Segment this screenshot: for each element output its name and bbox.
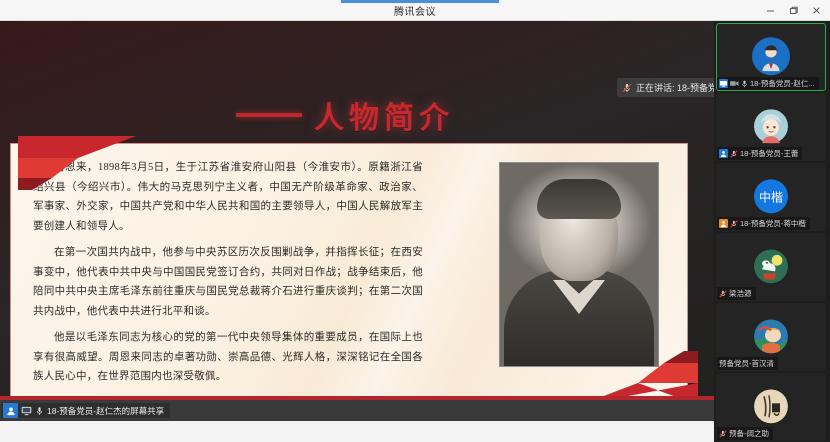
mic-icon xyxy=(35,406,44,416)
avatar: 中楷 xyxy=(754,179,788,213)
avatar xyxy=(752,37,790,75)
avatar xyxy=(754,319,788,353)
mic-muted-icon xyxy=(719,430,727,438)
person-icon xyxy=(3,403,18,418)
window-titlebar: 腾讯会议 xyxy=(0,0,830,21)
tencent-meeting-window: 腾讯会议 人物简介 xyxy=(0,0,830,442)
participant-name: 梁浩源 xyxy=(729,288,752,299)
minimize-button[interactable] xyxy=(759,0,782,21)
window-controls xyxy=(759,0,828,21)
active-speaker-label: 正在讲话: 18-预备党员-赵仁杰 xyxy=(636,81,714,94)
participant-tile[interactable]: 梁浩源 xyxy=(716,233,826,301)
title-dash-decoration xyxy=(236,113,302,117)
tab-strip-indicator xyxy=(341,0,499,3)
participant-tile[interactable]: 18-预备党员-王蕾 xyxy=(716,93,826,161)
avatar xyxy=(754,249,788,283)
participant-name: 预备-阔之助 xyxy=(729,428,769,439)
mic-muted-icon xyxy=(719,290,727,298)
portrait-photo xyxy=(499,162,659,367)
shared-screen-stage[interactable]: 人物简介 周恩来，1898年3月5日，生于江苏省淮安府山阳县（今淮安市）。原籍浙… xyxy=(0,21,714,421)
slide-title: 人物简介 xyxy=(314,93,454,137)
video-off-icon xyxy=(730,80,739,87)
close-button[interactable] xyxy=(805,0,828,21)
participant-rail[interactable]: 18-预备党员-赵仁... xyxy=(714,21,830,442)
slide-body-text: 周恩来，1898年3月5日，生于江苏省淮安府山阳县（今淮安市）。原籍浙江省绍兴县… xyxy=(33,158,423,394)
share-screen-icon xyxy=(719,79,728,88)
participant-tile[interactable]: 中楷 18-预备党员-蒋中楷 xyxy=(716,163,826,231)
window-title: 腾讯会议 xyxy=(394,3,436,18)
mic-muted-icon xyxy=(730,150,738,158)
participant-name: 18-预备党员-王蕾 xyxy=(740,148,798,159)
participant-namebar: 预备-阔之助 xyxy=(717,427,773,440)
participant-name: 18-预备党员-赵仁... xyxy=(750,78,815,89)
participant-namebar: 18-预备党员-赵仁... xyxy=(717,77,819,90)
mic-icon xyxy=(741,80,748,88)
participant-namebar: 18-预备党员-王蕾 xyxy=(717,147,802,160)
slide-title-group: 人物简介 xyxy=(0,93,690,137)
participant-tile[interactable]: 预备-阔之助 xyxy=(716,373,826,441)
participant-tile[interactable]: 18-预备党员-赵仁... xyxy=(716,23,826,91)
slide-paragraph: 他是以毛泽东同志为核心的党的第一代中央领导集体的重要成员，在国际上也享有很高威望… xyxy=(33,328,423,387)
avatar xyxy=(754,389,788,423)
avatar xyxy=(752,107,790,145)
participant-name: 预备党员-首汉清 xyxy=(719,358,774,369)
screen-share-indicator[interactable]: 18-预备党员-赵仁杰的屏幕共享 xyxy=(1,403,170,418)
active-speaker-toast: 正在讲话: 18-预备党员-赵仁杰 xyxy=(617,78,714,97)
participant-namebar: 梁浩源 xyxy=(717,287,756,300)
person-icon xyxy=(719,219,728,228)
monitor-icon xyxy=(21,406,32,416)
mic-muted-icon xyxy=(730,220,738,228)
screen-share-label: 18-预备党员-赵仁杰的屏幕共享 xyxy=(47,405,164,417)
participant-name: 18-预备党员-蒋中楷 xyxy=(740,218,806,229)
mic-muted-icon xyxy=(622,83,632,93)
participant-tile[interactable]: 预备党员-首汉清 xyxy=(716,303,826,371)
participant-namebar: 18-预备党员-蒋中楷 xyxy=(717,217,810,230)
participant-namebar: 预备党员-首汉清 xyxy=(717,357,778,370)
person-icon xyxy=(719,149,728,158)
ribbon-top-left-decoration xyxy=(18,132,138,190)
presentation-slide: 人物简介 周恩来，1898年3月5日，生于江苏省淮安府山阳县（今淮安市）。原籍浙… xyxy=(0,21,714,421)
screen-share-statusbar: 18-预备党员-赵仁杰的屏幕共享 xyxy=(0,400,714,421)
slide-paragraph: 在第一次国共内战中，他参与中央苏区历次反围剿战争，并指挥长征；在西安事变中，他代… xyxy=(33,243,423,321)
restore-button[interactable] xyxy=(782,0,805,21)
avatar-initials: 中楷 xyxy=(759,188,783,205)
